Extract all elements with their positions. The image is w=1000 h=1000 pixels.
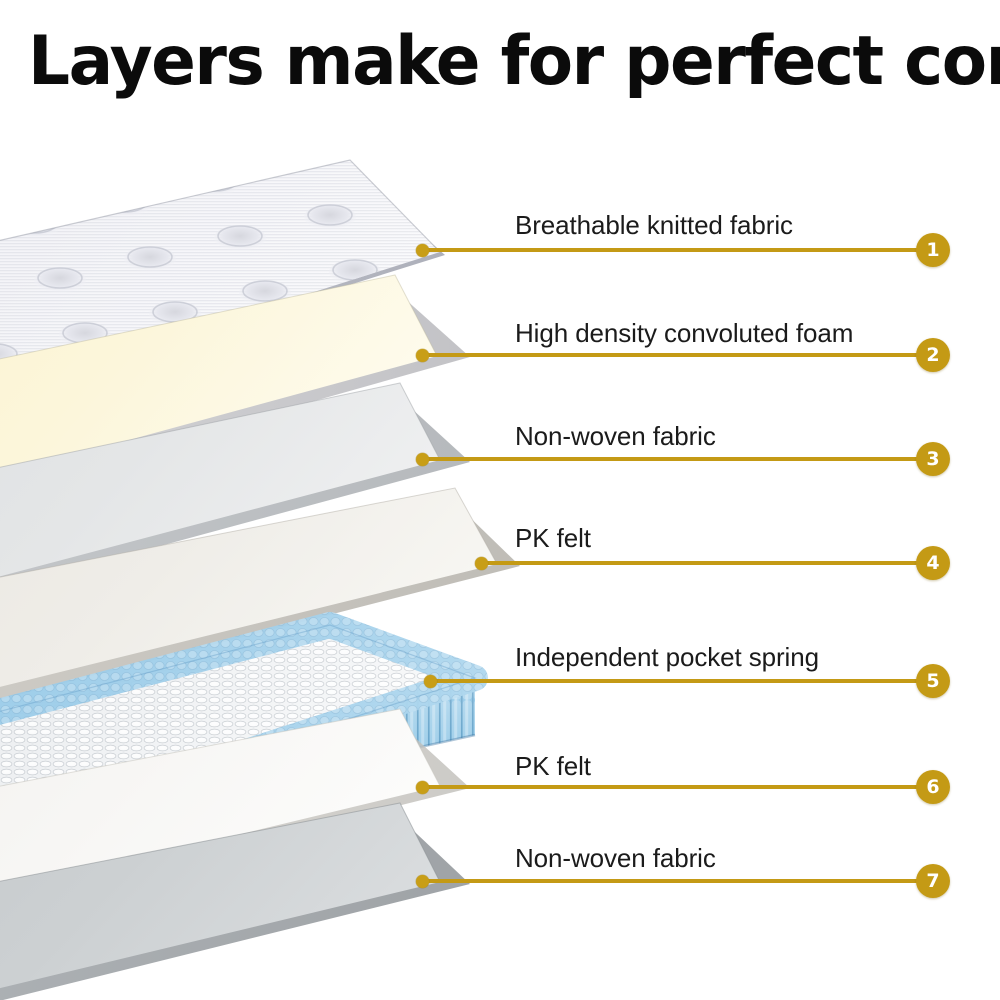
leader-line (426, 879, 933, 883)
leader-dot (416, 244, 429, 257)
layer-number-badge-1[interactable]: 1 (916, 233, 950, 267)
leader-line (426, 248, 933, 252)
layer-label-1: Breathable knitted fabric (515, 210, 793, 241)
leader-line (434, 679, 933, 683)
layer-number-badge-3[interactable]: 3 (916, 442, 950, 476)
layer-label-2: High density convoluted foam (515, 318, 853, 349)
leader-line (426, 785, 933, 789)
leader-dot (416, 349, 429, 362)
leader-dot (424, 675, 437, 688)
leader-line (485, 561, 933, 565)
leader-dot (475, 557, 488, 570)
layer-label-4: PK felt (515, 523, 591, 554)
mattress-exploded-diagram (0, 0, 1000, 1000)
leader-line (426, 353, 933, 357)
layer-number-badge-6[interactable]: 6 (916, 770, 950, 804)
layer-number-badge-7[interactable]: 7 (916, 864, 950, 898)
leader-line (426, 457, 933, 461)
infographic-canvas: Layers make for perfect comfort (0, 0, 1000, 1000)
leader-dot (416, 781, 429, 794)
layer-number-badge-4[interactable]: 4 (916, 546, 950, 580)
layer-label-3: Non-woven fabric (515, 421, 716, 452)
layer-number-badge-2[interactable]: 2 (916, 338, 950, 372)
layer-number-badge-5[interactable]: 5 (916, 664, 950, 698)
leader-dot (416, 453, 429, 466)
layer-label-7: Non-woven fabric (515, 843, 716, 874)
leader-dot (416, 875, 429, 888)
layer-label-6: PK felt (515, 751, 591, 782)
layer-label-5: Independent pocket spring (515, 642, 819, 673)
